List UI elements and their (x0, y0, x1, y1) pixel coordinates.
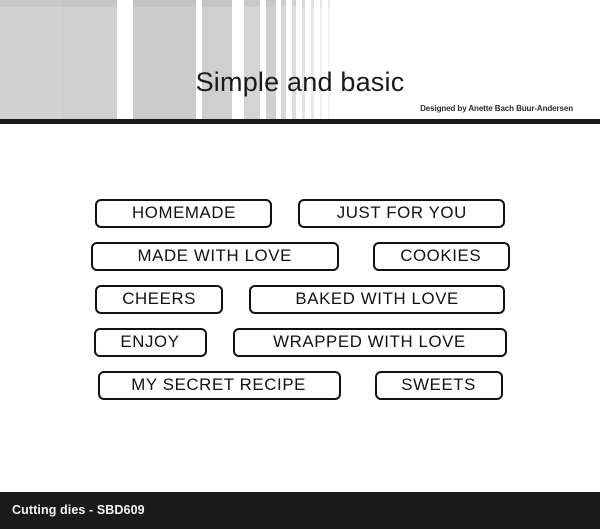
header-stripe (202, 0, 232, 119)
die-word-box[interactable]: JUST FOR YOU (298, 199, 505, 228)
header-stripe-cap (244, 0, 260, 7)
die-word-label: ENJOY (120, 334, 179, 351)
die-word-box[interactable]: WRAPPED WITH LOVE (233, 328, 507, 357)
header-stripe-cap (202, 0, 232, 7)
die-word-label: JUST FOR YOU (336, 205, 466, 222)
die-row: ENJOYWRAPPED WITH LOVE (0, 327, 600, 357)
header-stripe-cap (281, 0, 286, 7)
header-banner: Simple and basic Designed by Anette Bach… (0, 0, 600, 119)
die-row: CHEERSBAKED WITH LOVE (0, 284, 600, 314)
die-row: MADE WITH LOVECOOKIES (0, 241, 600, 271)
die-word-box[interactable]: ENJOY (94, 328, 207, 357)
die-word-box[interactable]: CHEERS (95, 285, 223, 314)
die-word-label: MADE WITH LOVE (137, 248, 291, 265)
die-row: MY SECRET RECIPESWEETS (0, 370, 600, 400)
header-stripe (281, 0, 286, 119)
die-word-label: MY SECRET RECIPE (132, 377, 307, 394)
header-stripe-cap (0, 0, 62, 7)
header-stripe (62, 0, 117, 119)
die-word-box[interactable]: BAKED WITH LOVE (249, 285, 505, 314)
die-word-box[interactable]: COOKIES (373, 242, 510, 271)
header-stripe (292, 0, 296, 119)
product-code-label: Cutting dies - SBD609 (12, 503, 145, 517)
die-word-box[interactable]: HOMEMADE (95, 199, 272, 228)
header-stripe (328, 0, 330, 119)
header-stripe (244, 0, 260, 119)
header-stripe (311, 0, 314, 119)
die-row: HOMEMADEJUST FOR YOU (0, 198, 600, 228)
die-word-label: SWEETS (401, 377, 476, 394)
die-word-label: HOMEMADE (131, 205, 235, 222)
die-sheet: HOMEMADEJUST FOR YOUMADE WITH LOVECOOKIE… (0, 124, 600, 492)
die-word-box[interactable]: SWEETS (375, 371, 503, 400)
die-word-label: WRAPPED WITH LOVE (273, 334, 466, 351)
brand-title: Simple and basic (0, 66, 600, 98)
header-stripe-cap (266, 0, 276, 7)
footer-bar: Cutting dies - SBD609 (0, 492, 600, 529)
header-stripe (320, 0, 322, 119)
die-word-label: BAKED WITH LOVE (295, 291, 458, 308)
header-stripe (0, 0, 62, 119)
die-word-box[interactable]: MADE WITH LOVE (91, 242, 339, 271)
header-stripe-cap (292, 0, 296, 7)
die-word-box[interactable]: MY SECRET RECIPE (98, 371, 341, 400)
die-word-label: CHEERS (122, 291, 196, 308)
header-stripe-cap (311, 0, 314, 7)
designer-credit: Designed by Anette Bach Buur-Andersen (420, 104, 573, 113)
die-word-label: COOKIES (401, 248, 482, 265)
header-stripe (302, 0, 305, 119)
header-stripe-cap (328, 0, 330, 7)
header-stripe-cap (62, 0, 117, 7)
header-stripe (266, 0, 276, 119)
header-stripe (133, 0, 196, 119)
header-stripe-cap (133, 0, 196, 7)
header-stripe-cap (320, 0, 322, 7)
header-stripe-cap (302, 0, 305, 7)
